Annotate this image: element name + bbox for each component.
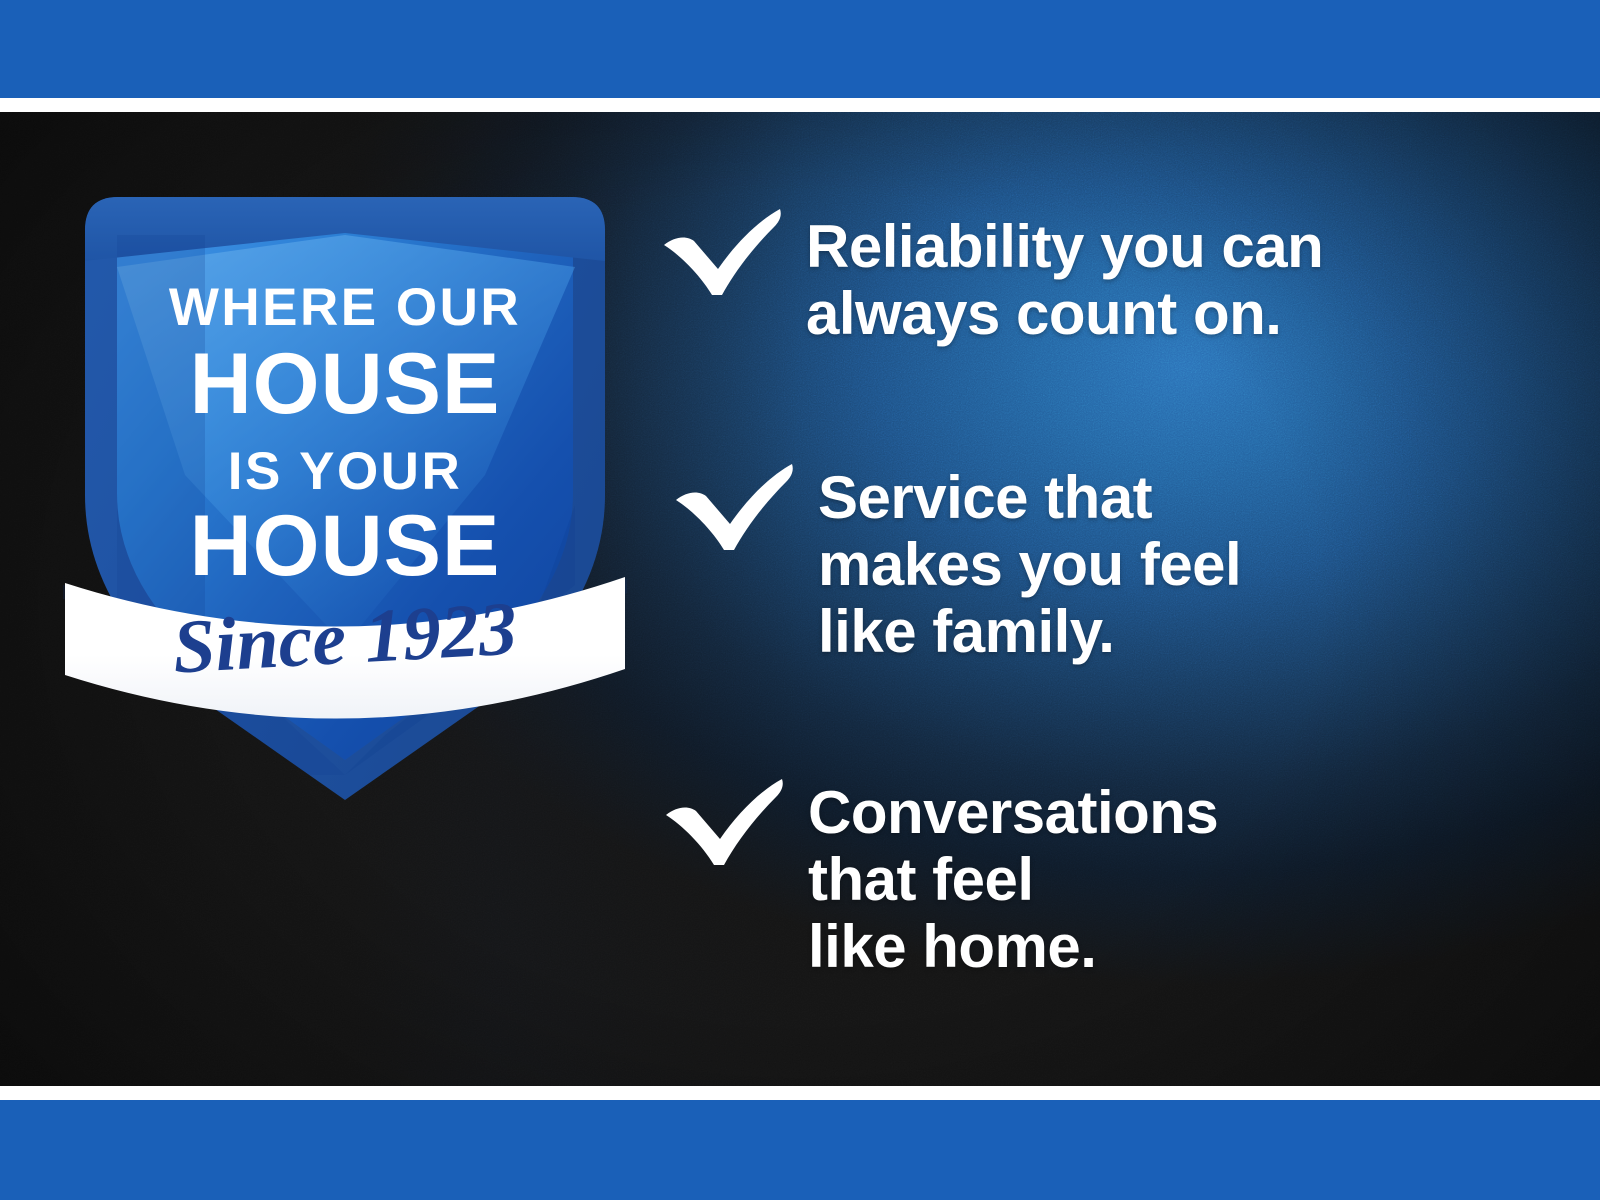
top-brand-bar bbox=[0, 0, 1600, 98]
shield-line-1: HOUSE bbox=[190, 336, 501, 432]
shield-line-2: IS YOUR bbox=[228, 442, 462, 501]
promo-graphic: WHERE OUR HOUSE IS YOUR HOUSE Since 1923… bbox=[0, 0, 1600, 1200]
list-item: Service that makes you feel like family. bbox=[672, 462, 1241, 666]
top-divider-stripe bbox=[0, 98, 1600, 112]
benefits-list: Reliability you can always count on. Ser… bbox=[660, 112, 1560, 1086]
list-item: Conversations that feel like home. bbox=[662, 777, 1218, 981]
check-icon bbox=[672, 462, 800, 554]
shield-line-3: HOUSE bbox=[190, 498, 501, 594]
list-item: Reliability you can always count on. bbox=[660, 207, 1323, 347]
list-item-label: Service that makes you feel like family. bbox=[818, 462, 1241, 666]
check-icon bbox=[662, 777, 790, 869]
bottom-divider-stripe bbox=[0, 1086, 1600, 1100]
shield-badge: WHERE OUR HOUSE IS YOUR HOUSE Since 1923 bbox=[55, 175, 635, 815]
shield-line-0: WHERE OUR bbox=[169, 278, 521, 337]
check-icon bbox=[660, 207, 788, 299]
list-item-label: Conversations that feel like home. bbox=[808, 777, 1218, 981]
bottom-brand-bar bbox=[0, 1100, 1600, 1200]
list-item-label: Reliability you can always count on. bbox=[806, 207, 1323, 347]
